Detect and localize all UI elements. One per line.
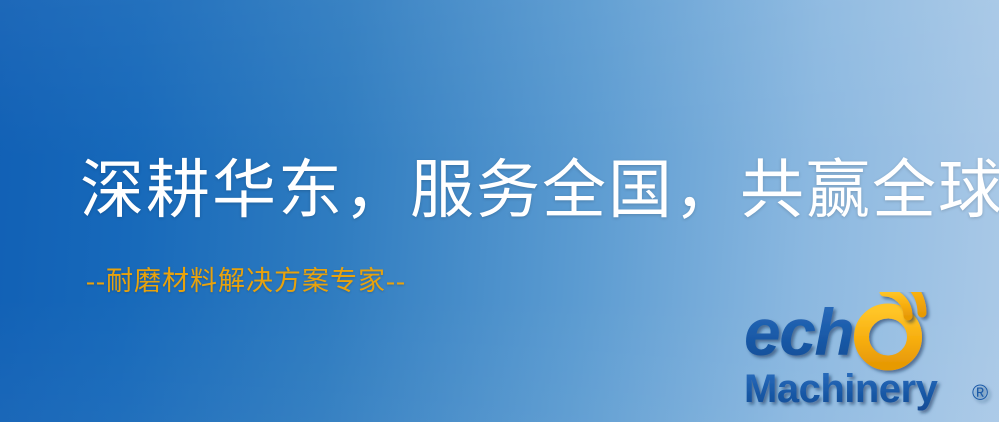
echo-machinery-logo[interactable]: ech Machinery ® [742, 292, 998, 420]
banner-headline: 深耕华东，服务全国，共赢全球 [80, 152, 999, 230]
banner-subtitle: --耐磨材料解决方案专家-- [86, 264, 406, 298]
hero-banner: 深耕华东，服务全国，共赢全球 --耐磨材料解决方案专家-- [0, 0, 999, 422]
logo-tagline: Machinery [744, 367, 939, 411]
logo-wordmark-ech: ech [744, 295, 853, 369]
logo-registered-mark: ® [972, 380, 988, 405]
